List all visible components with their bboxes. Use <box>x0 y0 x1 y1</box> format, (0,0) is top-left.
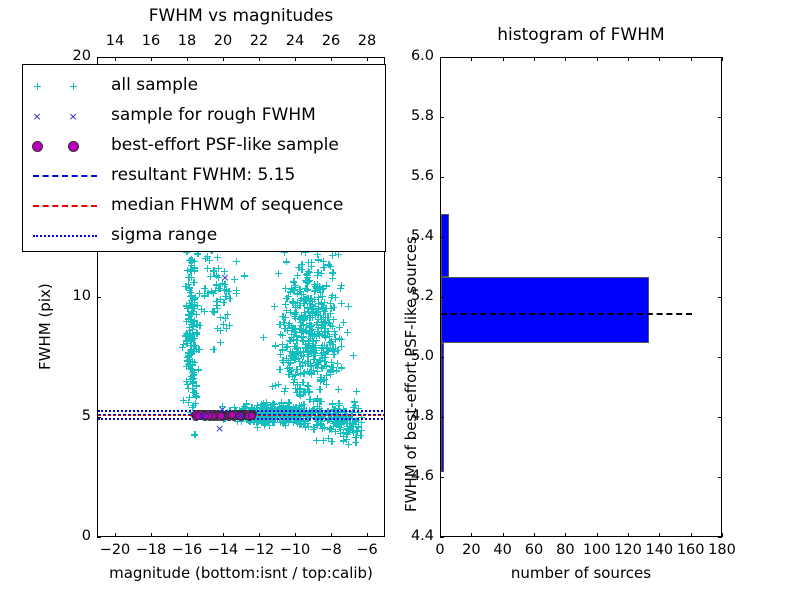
legend-entry[interactable]: median FHWM of sequence <box>23 191 385 221</box>
tick-mark <box>565 57 566 61</box>
scatter-point-all-sample <box>305 389 312 396</box>
scatter-point-all-sample <box>292 371 299 378</box>
scatter-point-all-sample <box>327 300 334 307</box>
tick-mark <box>659 533 660 537</box>
tick-mark <box>97 297 101 298</box>
scatter-point-all-sample <box>188 292 195 299</box>
scatter-point-all-sample <box>335 386 342 393</box>
scatter-point-all-sample <box>285 371 292 378</box>
scatter-point-all-sample <box>308 259 315 266</box>
histogram-median-line <box>441 313 692 315</box>
tick-mark <box>718 417 722 418</box>
scatter-point-all-sample <box>276 366 283 373</box>
scatter-point-all-sample <box>317 377 324 384</box>
circle-icon <box>32 141 43 152</box>
tick-label: 0 <box>49 529 91 544</box>
scatter-point-all-sample <box>187 365 194 372</box>
scatter-point-all-sample <box>300 317 307 324</box>
tick-label: 22 <box>239 34 279 49</box>
legend-entry[interactable]: resultant FWHM: 5.15 <box>23 161 385 191</box>
tick-mark <box>440 357 444 358</box>
legend-marker-dashed-line <box>23 191 107 221</box>
tick-mark <box>223 533 224 537</box>
scatter-point-all-sample <box>204 290 211 297</box>
tick-mark <box>534 533 535 537</box>
scatter-point-all-sample <box>217 339 224 346</box>
scatter-point-all-sample <box>283 258 290 265</box>
scatter-point-rough-fwhm: × <box>218 405 227 414</box>
tick-mark <box>659 57 660 61</box>
tick-mark <box>440 537 444 538</box>
scatter-point-all-sample <box>338 300 345 307</box>
scatter-point-all-sample <box>188 310 195 317</box>
tick-label: 180 <box>702 543 742 558</box>
tick-mark <box>597 533 598 537</box>
tick-mark <box>187 57 188 61</box>
scatter-point-all-sample <box>282 385 289 392</box>
scatter-point-rough-fwhm: × <box>220 273 229 282</box>
scatter-point-all-sample <box>319 286 326 293</box>
scatter-point-psf-like <box>248 412 256 420</box>
legend-marker-dashed-line <box>23 161 107 191</box>
scatter-point-all-sample <box>188 321 195 328</box>
scatter-point-all-sample <box>217 314 224 321</box>
scatter-point-all-sample <box>345 303 352 310</box>
scatter-point-all-sample <box>202 255 209 262</box>
scatter-point-all-sample <box>191 279 198 286</box>
dashed-line-icon <box>33 175 97 177</box>
tick-mark <box>565 533 566 537</box>
tick-mark <box>440 417 444 418</box>
legend-label: best-effort PSF-like sample <box>111 135 339 155</box>
legend-label: all sample <box>111 75 198 95</box>
tick-mark <box>259 533 260 537</box>
scatter-point-all-sample <box>224 311 231 318</box>
histogram-bar <box>441 214 449 277</box>
tick-label: 24 <box>275 34 315 49</box>
tick-mark <box>259 57 260 61</box>
scatter-point-all-sample <box>329 252 336 259</box>
tick-mark <box>718 177 722 178</box>
tick-mark <box>718 357 722 358</box>
scatter-point-all-sample <box>191 431 198 438</box>
tick-mark <box>187 533 188 537</box>
scatter-point-all-sample <box>288 352 295 359</box>
scatter-point-all-sample <box>233 287 240 294</box>
scatter-point-all-sample <box>298 266 305 273</box>
scatter-point-all-sample <box>318 270 325 277</box>
scatter-point-all-sample <box>260 334 267 341</box>
scatter-point-psf-like <box>228 411 236 419</box>
tick-mark <box>440 297 444 298</box>
scatter-point-all-sample <box>335 400 342 407</box>
scatter-point-all-sample <box>343 436 350 443</box>
cross-icon: × <box>33 112 42 121</box>
scatter-point-all-sample <box>310 367 317 374</box>
scatter-point-all-sample <box>321 320 328 327</box>
dashed-line-icon <box>33 205 97 207</box>
scatter-xlabel: magnitude (bottom:isnt / top:calib) <box>97 566 385 581</box>
tick-mark <box>722 533 723 537</box>
tick-mark <box>295 57 296 61</box>
legend-entry[interactable]: sigma range <box>23 221 385 251</box>
scatter-point-all-sample <box>325 435 332 442</box>
tick-mark <box>440 237 444 238</box>
scatter-point-rough-fwhm: × <box>236 411 245 420</box>
tick-mark <box>440 477 444 478</box>
scatter-point-all-sample <box>344 329 351 336</box>
scatter-point-rough-fwhm: × <box>198 412 207 421</box>
scatter-point-all-sample <box>353 388 360 395</box>
legend-entry[interactable]: best-effort PSF-like sample <box>23 131 385 161</box>
scatter-point-all-sample <box>192 390 199 397</box>
scatter-point-all-sample <box>311 296 318 303</box>
scatter-point-all-sample <box>316 398 323 405</box>
scatter-point-all-sample <box>217 327 224 334</box>
scatter-point-all-sample <box>275 270 282 277</box>
scatter-point-all-sample <box>319 331 326 338</box>
tick-mark <box>440 177 444 178</box>
tick-mark <box>151 533 152 537</box>
histogram-bar <box>441 277 649 343</box>
scatter-point-all-sample <box>214 254 221 261</box>
scatter-point-all-sample <box>306 396 313 403</box>
scatter-point-all-sample <box>315 359 322 366</box>
tick-label: 10 <box>49 289 91 304</box>
scatter-point-all-sample <box>210 267 217 274</box>
legend-label: resultant FWHM: 5.15 <box>111 165 295 185</box>
scatter-point-all-sample <box>221 287 228 294</box>
figure-canvas: FWHM vs magnitudes ××××× 141618202224262… <box>0 0 800 600</box>
tick-mark <box>331 57 332 61</box>
legend-marker-circle <box>23 131 107 161</box>
scatter-point-all-sample <box>233 258 240 265</box>
scatter-point-all-sample <box>271 401 278 408</box>
scatter-point-all-sample <box>231 276 238 283</box>
legend-label: sample for rough FWHM <box>111 105 316 125</box>
scatter-point-all-sample <box>327 263 334 270</box>
scatter-point-all-sample <box>280 420 287 427</box>
scatter-point-all-sample <box>312 312 319 319</box>
tick-mark <box>367 533 368 537</box>
scatter-point-all-sample <box>241 272 248 279</box>
tick-mark <box>440 57 444 58</box>
scatter-point-all-sample <box>194 302 201 309</box>
scatter-point-all-sample <box>289 298 296 305</box>
scatter-point-all-sample <box>297 349 304 356</box>
scatter-point-all-sample <box>311 332 318 339</box>
legend-label: median FHWM of sequence <box>111 195 343 215</box>
tick-label: 4.4 <box>388 529 434 544</box>
scatter-point-all-sample <box>217 296 224 303</box>
scatter-point-all-sample <box>297 386 304 393</box>
scatter-point-all-sample <box>292 309 299 316</box>
tick-mark <box>534 57 535 61</box>
tick-mark <box>597 57 598 61</box>
scatter-point-all-sample <box>272 342 279 349</box>
tick-mark <box>115 57 116 61</box>
tick-label: 5.6 <box>388 169 434 184</box>
scatter-point-all-sample <box>189 380 196 387</box>
tick-label: 28 <box>347 34 387 49</box>
tick-label: 5.8 <box>388 109 434 124</box>
scatter-point-all-sample <box>187 266 194 273</box>
scatter-point-all-sample <box>190 402 197 409</box>
scatter-point-all-sample <box>288 285 295 292</box>
scatter-point-all-sample <box>271 303 278 310</box>
tick-mark <box>97 537 101 538</box>
tick-mark <box>367 57 368 61</box>
scatter-point-all-sample <box>327 425 334 432</box>
scatter-point-all-sample <box>179 344 186 351</box>
scatter-point-all-sample <box>187 302 194 309</box>
scatter-point-all-sample <box>334 347 341 354</box>
tick-label: 18 <box>167 34 207 49</box>
tick-mark <box>503 57 504 61</box>
tick-mark <box>628 533 629 537</box>
scatter-point-all-sample <box>293 332 300 339</box>
tick-label: 20 <box>203 34 243 49</box>
tick-mark <box>331 533 332 537</box>
scatter-point-all-sample <box>327 366 334 373</box>
scatter-point-all-sample <box>296 286 303 293</box>
scatter-point-rough-fwhm: × <box>215 424 224 433</box>
scatter-point-all-sample <box>329 275 336 282</box>
tick-label: 26 <box>311 34 351 49</box>
scatter-point-all-sample <box>193 330 200 337</box>
tick-mark <box>718 537 722 538</box>
tick-label: 5 <box>49 409 91 424</box>
scatter-point-all-sample <box>334 360 341 367</box>
scatter-point-all-sample <box>296 302 303 309</box>
legend-entry[interactable]: ××sample for rough FWHM <box>23 101 385 131</box>
scatter-point-all-sample <box>280 403 287 410</box>
tick-label: 6.0 <box>388 49 434 64</box>
scatter-point-all-sample <box>201 308 208 315</box>
tick-mark <box>223 57 224 61</box>
tick-mark <box>718 237 722 238</box>
scatter-point-all-sample <box>316 386 323 393</box>
scatter-point-all-sample <box>326 339 333 346</box>
tick-mark <box>115 533 116 537</box>
scatter-point-all-sample <box>210 346 217 353</box>
scatter-point-all-sample <box>282 301 289 308</box>
tick-mark <box>471 57 472 61</box>
tick-mark <box>295 533 296 537</box>
histogram-ylabel: FWHM of best-effort PSF-like sources <box>404 236 419 512</box>
histogram-bar <box>441 343 444 472</box>
tick-mark <box>691 533 692 537</box>
scatter-point-all-sample <box>226 295 233 302</box>
tick-mark <box>722 57 723 61</box>
scatter-point-all-sample <box>187 342 194 349</box>
tick-label: −6 <box>345 543 389 558</box>
scatter-point-all-sample <box>281 325 288 332</box>
histogram-title: histogram of FWHM <box>440 27 722 44</box>
dashdot-line-icon <box>33 235 97 237</box>
scatter-point-all-sample <box>282 314 289 321</box>
scatter-point-all-sample <box>350 352 357 359</box>
tick-mark <box>718 477 722 478</box>
tick-mark <box>718 57 722 58</box>
tick-mark <box>628 57 629 61</box>
tick-mark <box>691 57 692 61</box>
legend-box: all sample××sample for rough FWHMbest-ef… <box>22 64 386 252</box>
histogram-xlabel: number of sources <box>440 566 722 581</box>
tick-mark <box>718 117 722 118</box>
legend-entry[interactable]: all sample <box>23 71 385 101</box>
scatter-title: FWHM vs magnitudes <box>97 8 385 25</box>
scatter-point-all-sample <box>204 265 211 272</box>
scatter-point-all-sample <box>352 434 359 441</box>
tick-mark <box>440 117 444 118</box>
tick-label: 16 <box>131 34 171 49</box>
tick-mark <box>97 57 101 58</box>
tick-mark <box>503 533 504 537</box>
circle-icon <box>68 141 79 152</box>
scatter-point-all-sample <box>269 383 276 390</box>
tick-label: 20 <box>49 49 91 64</box>
scatter-point-all-sample <box>186 394 193 401</box>
scatter-point-all-sample <box>304 304 311 311</box>
scatter-point-all-sample <box>338 282 345 289</box>
histogram-plot-area <box>440 57 722 537</box>
legend-marker-dashdot-line <box>23 221 107 251</box>
legend-label: sigma range <box>111 225 217 245</box>
scatter-point-all-sample <box>182 333 189 340</box>
plus-icon <box>34 83 41 90</box>
plus-icon <box>70 83 77 90</box>
scatter-point-all-sample <box>315 256 322 263</box>
scatter-point-all-sample <box>294 272 301 279</box>
legend-marker-cross: ×× <box>23 101 107 131</box>
scatter-point-all-sample <box>279 332 286 339</box>
scatter-point-all-sample <box>296 421 303 428</box>
scatter-point-all-sample <box>336 335 343 342</box>
scatter-point-all-sample <box>304 279 311 286</box>
scatter-point-all-sample <box>220 321 227 328</box>
scatter-point-all-sample <box>302 285 309 292</box>
tick-mark <box>718 297 722 298</box>
tick-mark <box>471 533 472 537</box>
scatter-point-all-sample <box>209 308 216 315</box>
scatter-point-all-sample <box>336 324 343 331</box>
scatter-ylabel: FWHM (pix) <box>38 283 53 370</box>
scatter-point-all-sample <box>328 359 335 366</box>
tick-label: 14 <box>95 34 135 49</box>
tick-mark <box>151 57 152 61</box>
scatter-point-all-sample <box>309 343 316 350</box>
legend-marker-plus <box>23 71 107 101</box>
cross-icon: × <box>69 112 78 121</box>
